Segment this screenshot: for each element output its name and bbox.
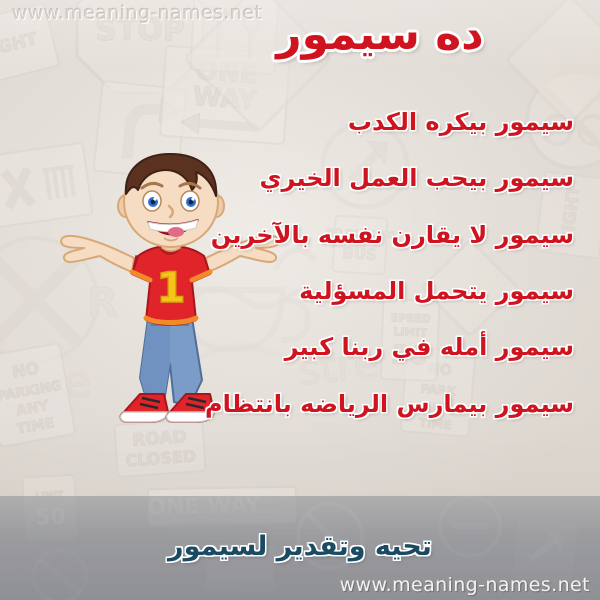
name-meaning-card: STOP RIGHT ONE WAY	[0, 0, 600, 600]
watermark-bottom: www.meaning-names.net	[340, 574, 590, 596]
phrase-line: سيمور بيمارس الرياضه بانتظام	[20, 390, 574, 418]
phrase-list: سيمور بيكره الكدب سيمور بيحب العمل الخير…	[20, 108, 586, 418]
phrase-line: سيمور بيكره الكدب	[20, 108, 574, 136]
phrase-line: سيمور يتحمل المسؤلية	[20, 277, 574, 305]
watermark-top: www.meaning-names.net	[12, 2, 262, 24]
phrase-line: سيمور لا يقارن نفسه بالآخرين	[20, 221, 574, 249]
phrase-line: سيمور أمله في ربنا كبير	[20, 333, 574, 361]
closing-greeting: تحيه وتقدير لسيمور	[0, 531, 600, 562]
svg-text:50: 50	[35, 504, 67, 531]
svg-text:ONE WAY: ONE WAY	[147, 496, 262, 520]
phrase-line: سيمور بيحب العمل الخيري	[20, 164, 574, 192]
